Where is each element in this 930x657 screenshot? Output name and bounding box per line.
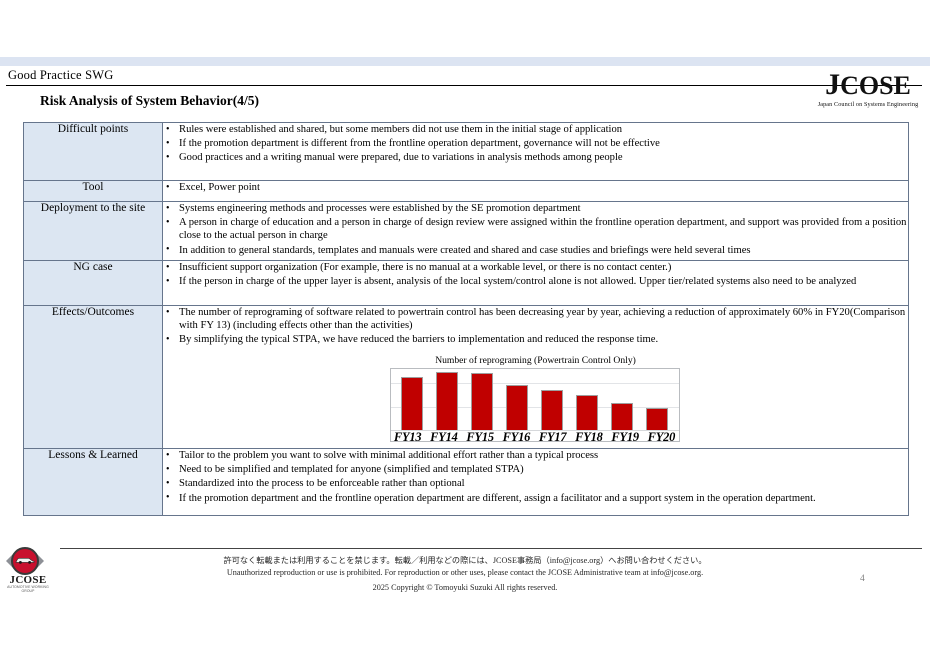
list-item: Excel, Power point: [163, 181, 908, 194]
chart-bar-slot: [605, 369, 640, 431]
bullet-list: Rules were established and shared, but s…: [163, 123, 908, 165]
jcose-logo: JCOSE Japan Council on Systems Engineeri…: [812, 70, 924, 108]
chart-x-label: FY18: [571, 430, 607, 445]
chart-bar: [506, 385, 528, 430]
chart-x-label: FY14: [426, 430, 462, 445]
chart-bar: [401, 377, 423, 430]
list-item: A person in charge of education and a pe…: [163, 216, 908, 242]
bullet-list: Insufficient support organization (For e…: [163, 261, 908, 288]
table-row: Effects/Outcomes The number of reprogram…: [24, 306, 909, 449]
list-item: Rules were established and shared, but s…: [163, 123, 908, 136]
chart-x-label: FY16: [498, 430, 534, 445]
row-content-ng-case: Insufficient support organization (For e…: [163, 261, 909, 306]
footer-notice-jp: 許可なく転載または利用することを禁じます。転載／利用などの際には、JCOSE事務…: [0, 554, 930, 566]
table-row: Difficult points Rules were established …: [24, 123, 909, 181]
jcose-wordmark: JCOSE: [812, 70, 924, 100]
row-label-effects-outcomes: Effects/Outcomes: [24, 306, 163, 449]
slide-footer: 許可なく転載または利用することを禁じます。転載／利用などの際には、JCOSE事務…: [0, 548, 930, 592]
row-content-tool: Excel, Power point: [163, 181, 909, 202]
list-item: Tailor to the problem you want to solve …: [163, 449, 908, 462]
chart-bar: [646, 408, 668, 430]
chart-bar-slot: [395, 369, 430, 431]
list-item: Need to be simplified and templated for …: [163, 463, 908, 476]
group-label: Good Practice SWG: [8, 68, 113, 83]
list-item: In addition to general standards, templa…: [163, 244, 908, 257]
slide-root: Good Practice SWG Risk Analysis of Syste…: [0, 0, 930, 657]
bullet-list: Systems engineering methods and processe…: [163, 202, 908, 257]
footer-notice-en: Unauthorized reproduction or use is proh…: [0, 568, 930, 577]
jcose-wordmark-j: J: [825, 68, 840, 101]
chart-bar: [611, 403, 633, 431]
table-row: NG case Insufficient support organizatio…: [24, 261, 909, 306]
page-title: Risk Analysis of System Behavior(4/5): [40, 93, 259, 109]
jcose-wordmark-rest: COSE: [840, 71, 911, 100]
table-row: Tool Excel, Power point: [24, 181, 909, 202]
chart-bar-slot: [640, 369, 675, 431]
row-content-difficult-points: Rules were established and shared, but s…: [163, 123, 909, 181]
chart-bar: [576, 395, 598, 430]
list-item: If the person in charge of the upper lay…: [163, 275, 908, 288]
chart-x-tick-labels: FY13FY14FY15FY16FY17FY18FY19FY20: [390, 430, 680, 445]
row-label-difficult-points: Difficult points: [24, 123, 163, 181]
good-practice-table: Difficult points Rules were established …: [23, 122, 909, 516]
slide-header: Good Practice SWG Risk Analysis of Syste…: [0, 68, 930, 118]
page-number: 4: [860, 574, 865, 584]
chart-title: Number of reprograming (Powertrain Contr…: [390, 355, 682, 366]
chart-bar-slot: [465, 369, 500, 431]
list-item: Insufficient support organization (For e…: [163, 261, 908, 274]
row-label-ng-case: NG case: [24, 261, 163, 306]
row-label-lessons-learned: Lessons & Learned: [24, 449, 163, 516]
bullet-list: The number of reprograming of software r…: [163, 306, 908, 347]
list-item: If the promotion department and the fron…: [163, 492, 908, 505]
chart-bar-slot: [430, 369, 465, 431]
row-content-effects-outcomes: The number of reprograming of software r…: [163, 306, 909, 449]
top-accent-band: [0, 57, 930, 66]
bullet-list: Tailor to the problem you want to solve …: [163, 449, 908, 505]
chart-bar-slot: [535, 369, 570, 431]
table-row: Lessons & Learned Tailor to the problem …: [24, 449, 909, 516]
list-item: If the promotion department is different…: [163, 137, 908, 150]
list-item: Standardized into the process to be enfo…: [163, 477, 908, 490]
chart-bar: [436, 372, 458, 431]
jcose-tagline: Japan Council on Systems Engineering: [812, 101, 924, 108]
footer-divider: [60, 548, 922, 549]
header-divider: [6, 85, 922, 86]
chart-bar: [471, 373, 493, 431]
chart-bar-slot: [570, 369, 605, 431]
list-item: The number of reprograming of software r…: [163, 306, 908, 332]
chart-x-label: FY15: [462, 430, 498, 445]
list-item: By simplifying the typical STPA, we have…: [163, 333, 908, 346]
list-item: Good practices and a writing manual were…: [163, 151, 908, 164]
footer-copyright: 2025 Copyright © Tomoyuki Suzuki All rig…: [0, 583, 930, 592]
chart-x-label: FY13: [390, 430, 426, 445]
row-content-lessons-learned: Tailor to the problem you want to solve …: [163, 449, 909, 516]
chart-bar: [541, 390, 563, 431]
chart-bar-slot: [500, 369, 535, 431]
chart-x-label: FY17: [535, 430, 571, 445]
reprograming-bar-chart: Number of reprograming (Powertrain Contr…: [390, 355, 682, 442]
row-content-deployment: Systems engineering methods and processe…: [163, 202, 909, 261]
row-label-tool: Tool: [24, 181, 163, 202]
row-label-deployment: Deployment to the site: [24, 202, 163, 261]
chart-x-label: FY19: [607, 430, 643, 445]
table-row: Deployment to the site Systems engineeri…: [24, 202, 909, 261]
bullet-list: Excel, Power point: [163, 181, 908, 194]
chart-x-label: FY20: [643, 430, 679, 445]
list-item: Systems engineering methods and processe…: [163, 202, 908, 215]
